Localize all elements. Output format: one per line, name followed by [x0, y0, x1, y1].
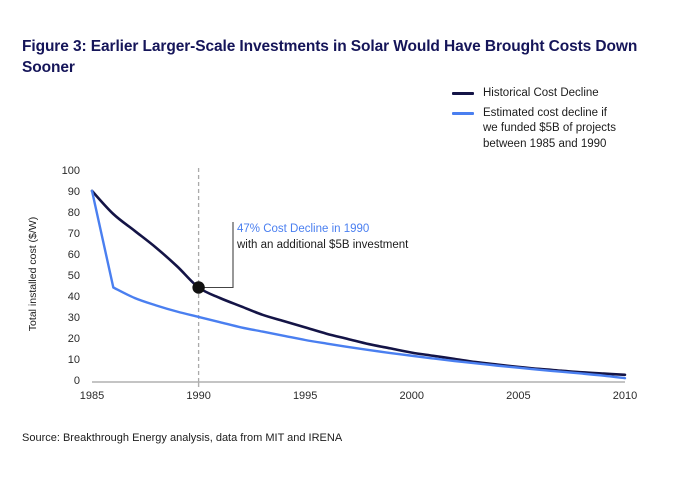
x-tick-label: 2000 — [389, 390, 435, 402]
x-tick-label: 1995 — [282, 390, 328, 402]
chart-annotation: 47% Cost Decline in 1990 with an additio… — [237, 222, 457, 253]
y-axis-title: Total installed cost ($/W) — [27, 179, 39, 369]
y-tick-label: 10 — [50, 354, 80, 366]
y-tick-label: 90 — [50, 186, 80, 198]
y-tick-label: 60 — [50, 249, 80, 261]
source-note: Source: Breakthrough Energy analysis, da… — [22, 432, 342, 444]
x-tick-label: 1990 — [176, 390, 222, 402]
y-tick-label: 80 — [50, 207, 80, 219]
y-tick-label: 40 — [50, 291, 80, 303]
x-tick-label: 2005 — [495, 390, 541, 402]
x-tick-label: 2010 — [602, 390, 648, 402]
annotation-subtext: with an additional $5B investment — [237, 238, 457, 254]
y-tick-label: 70 — [50, 228, 80, 240]
annotation-leader-line — [202, 222, 233, 288]
annotation-headline: 47% Cost Decline in 1990 — [237, 222, 457, 238]
y-tick-label: 100 — [50, 165, 80, 177]
x-tick-label: 1985 — [69, 390, 115, 402]
y-tick-label: 0 — [50, 375, 80, 387]
data-point-marker-1990 — [192, 281, 204, 293]
y-tick-label: 30 — [50, 312, 80, 324]
y-tick-label: 20 — [50, 333, 80, 345]
series-line-historical — [92, 191, 625, 375]
y-tick-label: 50 — [50, 270, 80, 282]
series-line-estimated — [92, 191, 625, 378]
